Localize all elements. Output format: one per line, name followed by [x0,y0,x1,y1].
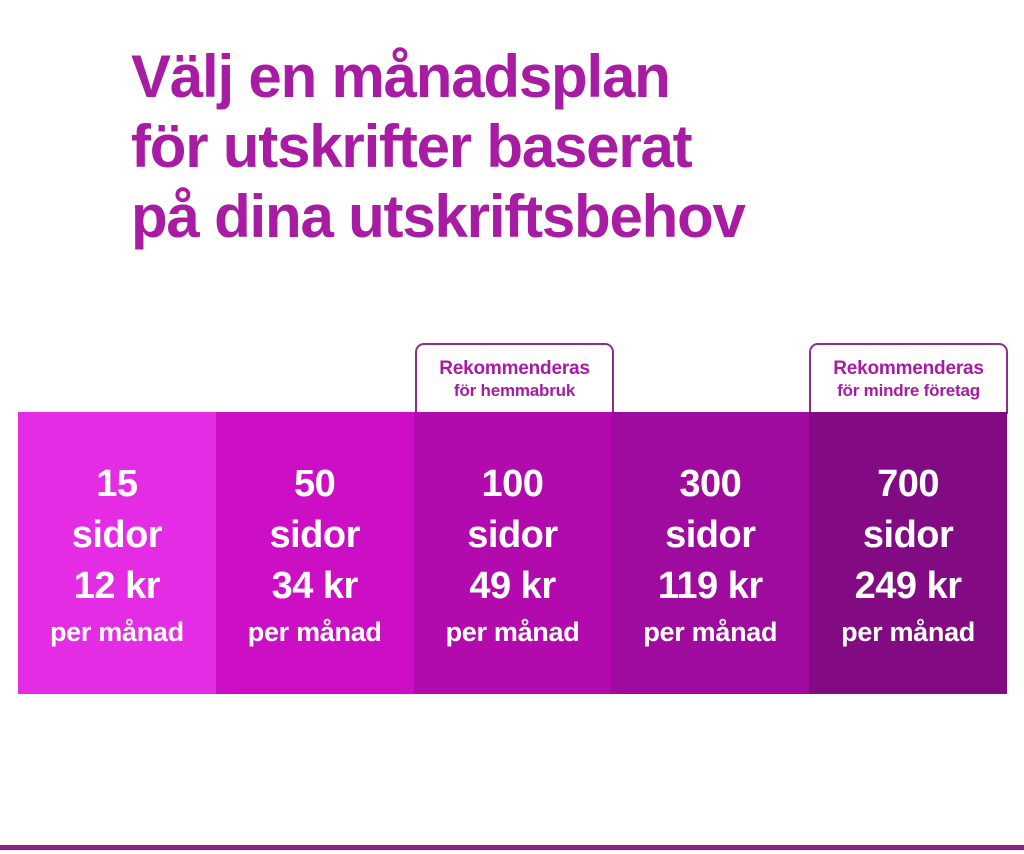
plan-price: 34 kr [272,561,358,612]
plan-unit: sidor [467,510,557,561]
plan-period: per månad [643,614,777,650]
badge-title: Rekommenderas [439,358,590,380]
page-title: Välj en månadsplan för utskrifter basera… [131,42,931,252]
plan-unit: sidor [665,510,755,561]
plan-tile[interactable]: 100 sidor 49 kr per månad [414,412,612,694]
plan-period: per månad [841,614,975,650]
headline-line-1: Välj en månadsplan [131,42,931,112]
badge-subtitle: för mindre företag [837,380,980,401]
plan-price: 49 kr [469,561,555,612]
recommendation-badge-home: Rekommenderas för hemmabruk [415,343,614,414]
headline-line-2: för utskrifter baserat [131,112,931,182]
badge-title: Rekommenderas [833,358,984,380]
plan-price: 119 kr [658,561,763,612]
plan-pages: 300 [679,459,741,510]
plan-pages: 50 [294,459,335,510]
plan-unit: sidor [72,510,162,561]
plan-pages: 15 [96,459,137,510]
plan-price: 12 kr [74,561,160,612]
plan-period: per månad [446,614,580,650]
plan-price: 249 kr [855,561,962,612]
plan-tile[interactable]: 15 sidor 12 kr per månad [18,412,216,694]
footer-divider [0,845,1024,850]
pricing-plan-band: 15 sidor 12 kr per månad 50 sidor 34 kr … [18,412,1007,694]
plan-tile[interactable]: 300 sidor 119 kr per månad [611,412,809,694]
plan-period: per månad [248,614,382,650]
recommendation-badge-business: Rekommenderas för mindre företag [809,343,1008,414]
plan-tile[interactable]: 700 sidor 249 kr per månad [809,412,1007,694]
badge-subtitle: för hemmabruk [454,380,575,401]
plan-period: per månad [50,614,184,650]
headline-line-3: på dina utskriftsbehov [131,182,931,252]
plan-unit: sidor [269,510,359,561]
plan-unit: sidor [863,510,953,561]
plan-pages: 700 [877,459,939,510]
plan-tile[interactable]: 50 sidor 34 kr per månad [216,412,414,694]
plan-pages: 100 [482,459,544,510]
